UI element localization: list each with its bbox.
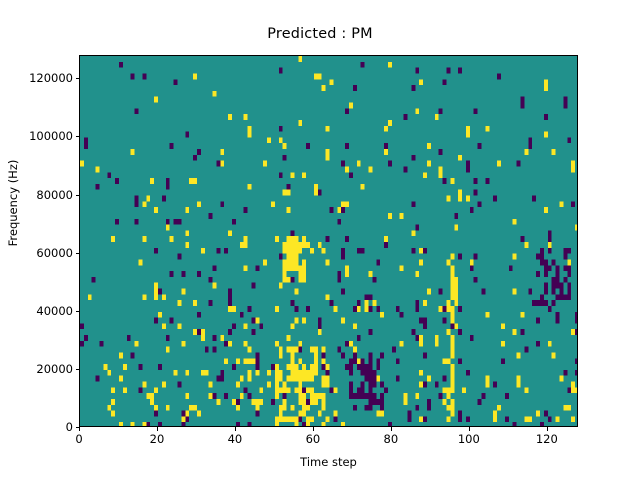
y-axis-label: Frequency (Hz)	[6, 123, 20, 283]
y-tick-label: 0	[3, 420, 73, 434]
x-axis-label: Time step	[79, 455, 578, 469]
y-tick-label: 20000	[3, 362, 73, 376]
matplotlib-figure: Predicted : PM 0200004000060000800001000…	[0, 0, 640, 480]
x-tick-mark	[391, 427, 392, 431]
x-tick-label: 40	[205, 432, 265, 446]
y-tick-label: 40000	[3, 304, 73, 318]
x-tick-mark	[469, 427, 470, 431]
x-tick-label: 120	[517, 432, 577, 446]
x-tick-label: 20	[127, 432, 187, 446]
x-tick-label: 80	[361, 432, 421, 446]
page-title: Predicted : PM	[0, 26, 640, 42]
x-tick-mark	[79, 427, 80, 431]
x-tick-label: 60	[283, 432, 343, 446]
x-tick-mark	[157, 427, 158, 431]
x-tick-mark	[313, 427, 314, 431]
heatmap-axes[interactable]	[79, 55, 578, 427]
x-tick-label: 100	[439, 432, 499, 446]
y-tick-mark	[76, 427, 80, 428]
heatmap-image	[80, 56, 578, 427]
x-tick-label: 0	[49, 432, 109, 446]
x-tick-mark	[547, 427, 548, 431]
y-tick-label: 120000	[3, 71, 73, 85]
x-tick-mark	[235, 427, 236, 431]
